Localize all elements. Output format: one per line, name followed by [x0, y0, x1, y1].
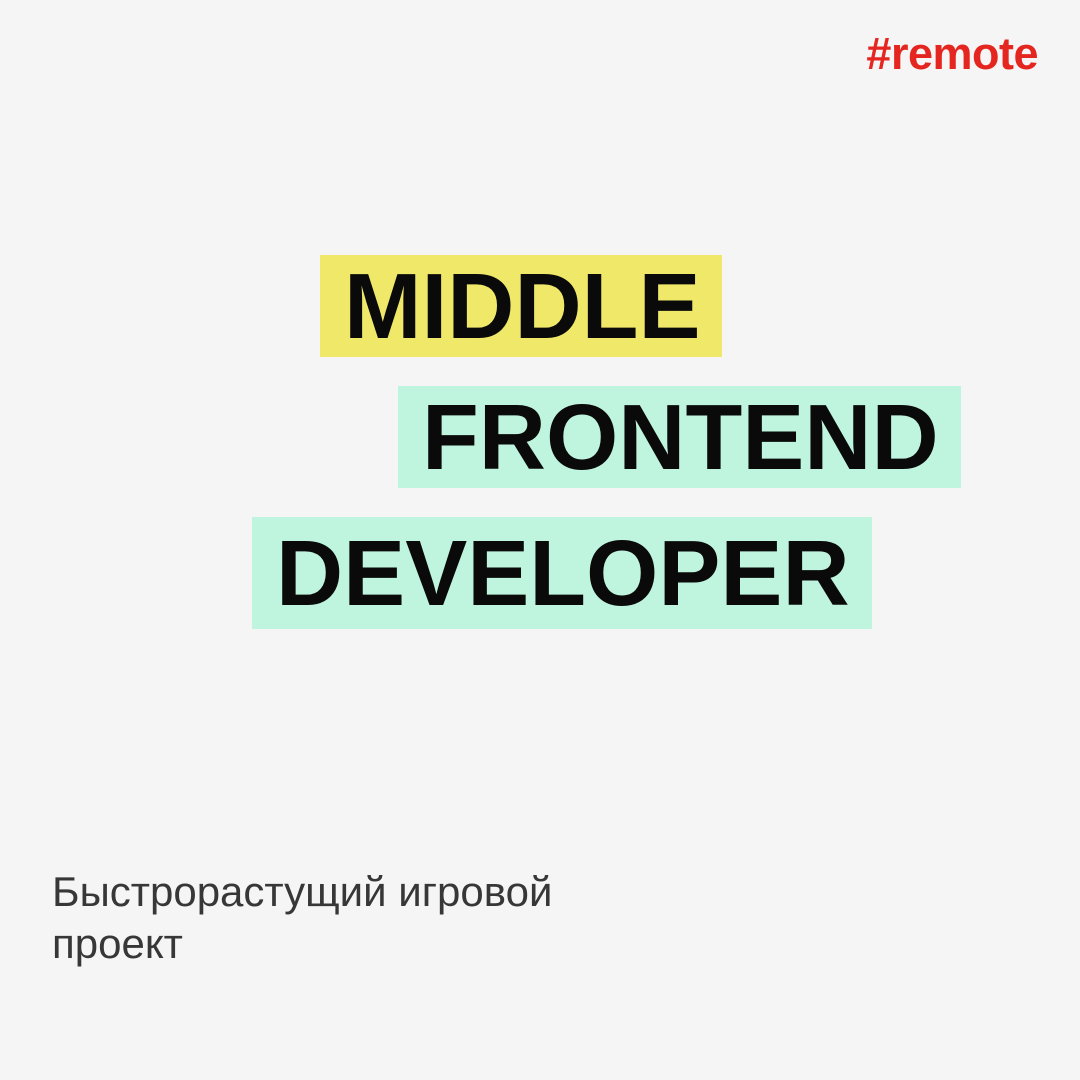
- headline-line-3: DEVELOPER: [0, 517, 1080, 629]
- headline-highlight-middle: MIDDLE: [320, 255, 722, 357]
- remote-tag: #remote: [866, 30, 1038, 77]
- subtitle: Быстрорастущий игровой проект: [52, 866, 692, 970]
- headline-highlight-frontend: FRONTEND: [398, 386, 961, 488]
- headline-block: MIDDLE FRONTEND DEVELOPER: [0, 255, 1080, 629]
- subtitle-line-2: проект: [52, 918, 692, 970]
- vacancy-card: #remote MIDDLE FRONTEND DEVELOPER Быстро…: [0, 0, 1080, 1080]
- subtitle-line-1: Быстрорастущий игровой: [52, 866, 692, 918]
- headline-line-2: FRONTEND: [0, 386, 1080, 488]
- headline-line-1: MIDDLE: [0, 255, 1080, 357]
- headline-highlight-developer: DEVELOPER: [252, 517, 872, 629]
